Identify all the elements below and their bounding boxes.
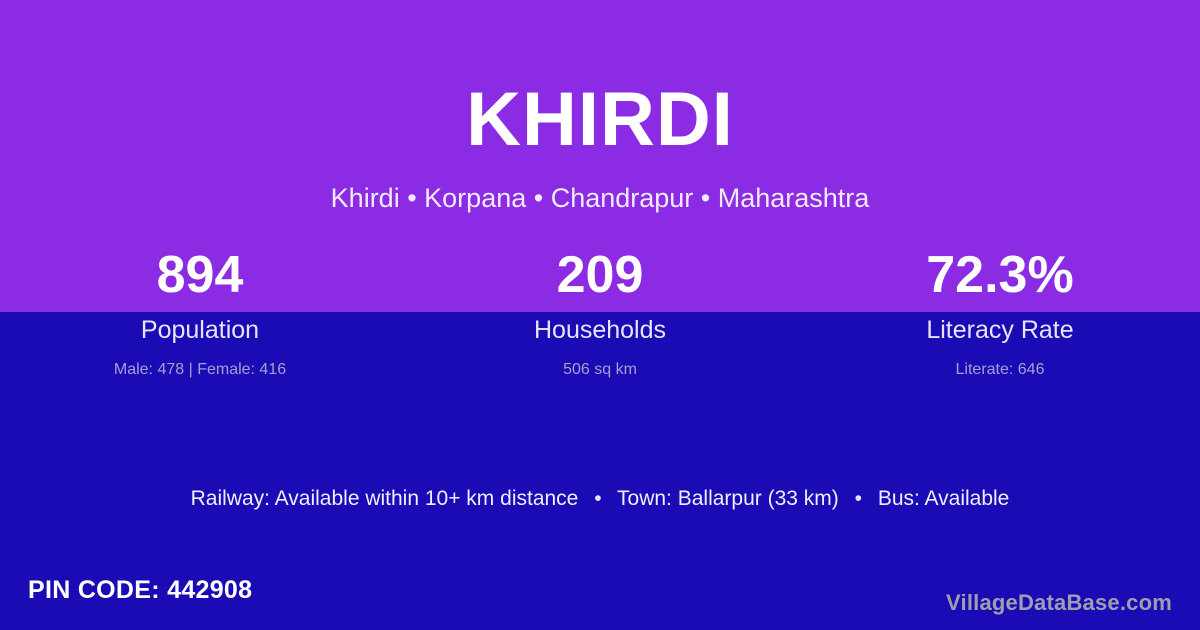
breadcrumb: Khirdi • Korpana • Chandrapur • Maharash… <box>0 182 1200 214</box>
stat-sublabel: Male: 478 | Female: 416 <box>0 343 400 378</box>
infra-separator-1: • <box>584 487 611 510</box>
infra-separator-2: • <box>845 487 872 510</box>
stat-value: 894 <box>0 243 400 309</box>
stat-value: 72.3% <box>800 243 1200 309</box>
infra-railway: Railway: Available within 10+ km distanc… <box>191 487 579 510</box>
stat-sublabel: 506 sq km <box>400 343 800 378</box>
stat-value: 209 <box>400 243 800 309</box>
stat-label: Literacy Rate <box>800 309 1200 343</box>
village-info-card: KHIRDI Khirdi • Korpana • Chandrapur • M… <box>0 0 1200 630</box>
stat-label: Population <box>0 309 400 343</box>
stat-households: 209 Households 506 sq km <box>400 243 800 378</box>
stats-row: 894 Population Male: 478 | Female: 416 2… <box>0 243 1200 378</box>
page-title: KHIRDI <box>0 82 1200 158</box>
stat-literacy-rate: 72.3% Literacy Rate Literate: 646 <box>800 243 1200 378</box>
stat-sublabel: Literate: 646 <box>800 343 1200 378</box>
pin-code: PIN CODE: 442908 <box>28 576 252 605</box>
infrastructure-line: Railway: Available within 10+ km distanc… <box>0 485 1200 512</box>
stat-population: 894 Population Male: 478 | Female: 416 <box>0 243 400 378</box>
stat-label: Households <box>400 309 800 343</box>
infra-town: Town: Ballarpur (33 km) <box>617 487 839 510</box>
infra-bus: Bus: Available <box>878 487 1010 510</box>
card-content: KHIRDI Khirdi • Korpana • Chandrapur • M… <box>0 0 1200 630</box>
brand-watermark: VillageDataBase.com <box>946 590 1172 616</box>
